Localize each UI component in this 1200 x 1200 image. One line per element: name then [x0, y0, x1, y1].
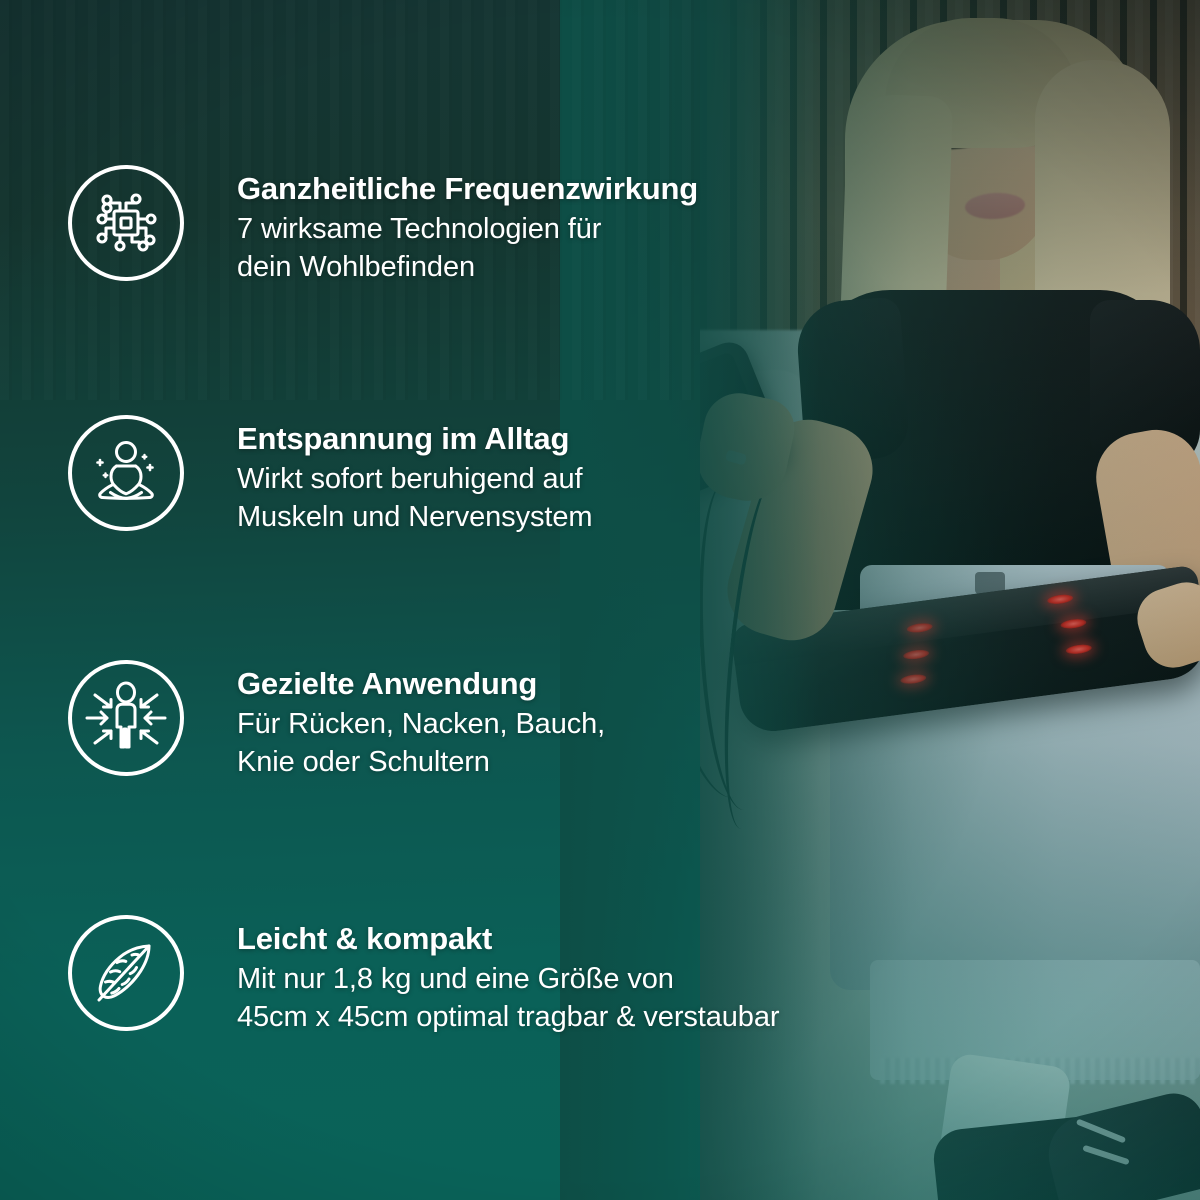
feature-title: Entspannung im Alltag — [237, 419, 592, 459]
feature-text-2: Entspannung im Alltag Wirkt sofort beruh… — [237, 415, 592, 536]
feature-item-2: Entspannung im Alltag Wirkt sofort beruh… — [68, 415, 592, 536]
feature-line: Muskeln und Nervensystem — [237, 498, 592, 536]
feature-line: Knie oder Schultern — [237, 743, 605, 781]
product-feature-banner: Ganzheitliche Frequenzwirkung 7 wirksame… — [0, 0, 1200, 1200]
feature-line: Für Rücken, Nacken, Bauch, — [237, 705, 605, 743]
microchip-circuit-icon — [68, 165, 184, 281]
feature-line: 45cm x 45cm optimal tragbar & verstaubar — [237, 998, 779, 1036]
feature-title: Leicht & kompakt — [237, 919, 779, 959]
feather-icon — [68, 915, 184, 1031]
body-target-arrows-icon — [68, 660, 184, 776]
feature-title: Gezielte Anwendung — [237, 664, 605, 704]
feature-list: Ganzheitliche Frequenzwirkung 7 wirksame… — [0, 0, 1200, 1200]
meditation-lotus-icon — [68, 415, 184, 531]
feature-line: 7 wirksame Technologien für — [237, 210, 698, 248]
feature-text-4: Leicht & kompakt Mit nur 1,8 kg und eine… — [237, 915, 779, 1036]
feature-line: Wirkt sofort beruhigend auf — [237, 460, 592, 498]
feature-text-1: Ganzheitliche Frequenzwirkung 7 wirksame… — [237, 165, 698, 286]
feature-title: Ganzheitliche Frequenzwirkung — [237, 169, 698, 209]
feature-item-3: Gezielte Anwendung Für Rücken, Nacken, B… — [68, 660, 605, 781]
feature-item-4: Leicht & kompakt Mit nur 1,8 kg und eine… — [68, 915, 779, 1036]
feature-text-3: Gezielte Anwendung Für Rücken, Nacken, B… — [237, 660, 605, 781]
feature-line: Mit nur 1,8 kg und eine Größe von — [237, 960, 779, 998]
feature-line: dein Wohlbefinden — [237, 248, 698, 286]
feature-item-1: Ganzheitliche Frequenzwirkung 7 wirksame… — [68, 165, 698, 286]
